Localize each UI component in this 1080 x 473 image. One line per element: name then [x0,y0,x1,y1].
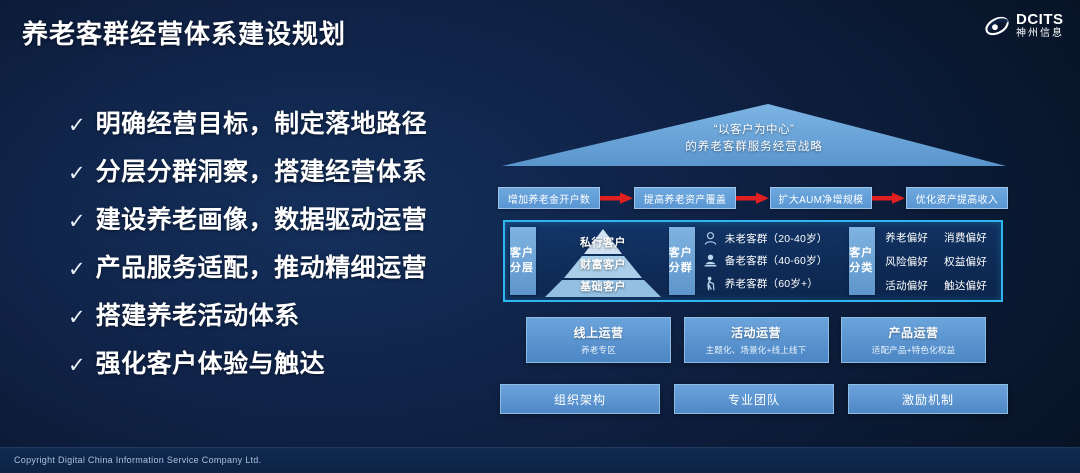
footer-bar: Copyright Digital China Information Serv… [0,447,1080,473]
classify-item: 风险偏好 [885,254,938,269]
check-icon: ✓ [68,115,86,136]
customer-tier-tag: 客户分层 [510,227,536,295]
list-item: ✓ 搭建养老活动体系 [68,296,478,344]
segment-label-3: 养老客群（60岁+） [725,276,818,291]
list-item-label: 分层分群洞察，搭建经营体系 [96,152,428,188]
page-title: 养老客群经营体系建设规划 [22,14,346,51]
brand-text: DCITS 神州信息 [1016,12,1064,39]
customer-classify-section: 客户分类 养老偏好 消费偏好 风险偏好 权益偏好 活动偏好 触达偏好 [844,222,1001,300]
customer-tier-pyramid: 私行客户 财富客户 基础客户 [536,222,664,300]
classify-item: 触达偏好 [944,278,997,293]
goal-chip-1[interactable]: 增加养老金开户数 [498,187,600,209]
brand-name-en: DCITS [1016,12,1064,27]
goal-chip-row: 增加养老金开户数 提高养老资产覆盖 扩大AUM净增规模 优化资产提高收入 [498,186,1008,210]
list-item: ✓ 明确经营目标，制定落地路径 [68,104,478,152]
tier-level-3: 基础客户 [544,278,662,294]
goal-chip-3[interactable]: 扩大AUM净增规模 [770,187,872,209]
arrow-right-icon [600,191,634,205]
goal-chip-2[interactable]: 提高养老资产覆盖 [634,187,736,209]
segment-label-1: 未老客群（20-40岁） [725,231,828,246]
brand-name-cn: 神州信息 [1016,29,1064,39]
list-item-label: 强化客户体验与触达 [96,344,326,380]
list-item: 未老客群（20-40岁） [703,231,845,246]
check-icon: ✓ [68,163,86,184]
strategy-roof: “以客户为中心” 的养老客群服务经营战略 [500,100,1008,172]
copyright-text: Copyright Digital China Information Serv… [14,455,261,465]
tier-level-2: 财富客户 [544,256,662,272]
roof-label: “以客户为中心” 的养老客群服务经营战略 [500,122,1008,156]
operation-subtitle: 适配产品+特色化权益 [872,344,955,356]
operation-card-product[interactable]: 产品运营 适配产品+特色化权益 [841,317,986,363]
list-item: ✓ 产品服务适配，推动精细运营 [68,248,478,296]
swirl-logo-icon [984,13,1010,39]
brand-logo: DCITS 神州信息 [984,12,1064,39]
young-person-icon [703,231,718,246]
foundation-row: 组织架构 专业团队 激励机制 [500,384,1008,414]
operation-title: 线上运营 [573,324,623,341]
roof-label-line2: 的养老客群服务经营战略 [500,139,1008,156]
list-item: 备老客群（40-60岁） [703,253,845,268]
operations-row: 线上运营 养老专区 活动运营 主题化、场景化+线上线下 产品运营 适配产品+特色… [526,317,986,363]
customer-analysis-panel: 客户分层 私行客户 财富客户 基础客户 客户分群 [503,220,1003,302]
customer-classify-grid: 养老偏好 消费偏好 风险偏好 权益偏好 活动偏好 触达偏好 [875,222,1001,300]
tier-level-1: 私行客户 [544,234,662,250]
classify-item: 权益偏好 [944,254,997,269]
roof-label-line1: “以客户为中心” [500,122,1008,139]
classify-item: 养老偏好 [885,230,938,245]
adult-person-icon [703,253,718,268]
list-item: 养老客群（60岁+） [703,276,845,291]
operation-subtitle: 养老专区 [581,344,616,356]
customer-segment-tag: 客户分群 [669,227,695,295]
operation-title: 活动运营 [731,324,781,341]
operation-title: 产品运营 [888,324,938,341]
strategy-diagram: “以客户为中心” 的养老客群服务经营战略 增加养老金开户数 提高养老资产覆盖 扩… [492,92,1012,432]
foundation-card-incentive[interactable]: 激励机制 [848,384,1008,414]
check-icon: ✓ [68,307,86,328]
list-item-label: 搭建养老活动体系 [96,296,300,332]
customer-tier-section: 客户分层 私行客户 财富客户 基础客户 [505,222,664,300]
foundation-card-org[interactable]: 组织架构 [500,384,660,414]
check-icon: ✓ [68,355,86,376]
customer-segment-section: 客户分群 未老客群（20-40岁） 备老客群（40-60岁） [664,222,845,300]
operation-card-online[interactable]: 线上运营 养老专区 [526,317,671,363]
classify-item: 消费偏好 [944,230,997,245]
foundation-card-team[interactable]: 专业团队 [674,384,834,414]
check-icon: ✓ [68,259,86,280]
customer-segment-list: 未老客群（20-40岁） 备老客群（40-60岁） [695,222,845,300]
list-item-label: 产品服务适配，推动精细运营 [96,248,428,284]
operation-subtitle: 主题化、场景化+线上线下 [706,344,807,356]
segment-label-2: 备老客群（40-60岁） [725,253,828,268]
check-icon: ✓ [68,211,86,232]
classify-item: 活动偏好 [885,278,938,293]
list-item: ✓ 强化客户体验与触达 [68,344,478,392]
list-item: ✓ 分层分群洞察，搭建经营体系 [68,152,478,200]
list-item-label: 建设养老画像，数据驱动运营 [96,200,428,236]
key-points-list: ✓ 明确经营目标，制定落地路径 ✓ 分层分群洞察，搭建经营体系 ✓ 建设养老画像… [68,104,478,392]
goal-chip-4[interactable]: 优化资产提高收入 [906,187,1008,209]
customer-classify-tag: 客户分类 [849,227,875,295]
arrow-right-icon [872,191,906,205]
list-item: ✓ 建设养老画像，数据驱动运营 [68,200,478,248]
elderly-cane-icon [703,276,718,291]
arrow-right-icon [736,191,770,205]
operation-card-activity[interactable]: 活动运营 主题化、场景化+线上线下 [684,317,829,363]
slide-header: 养老客群经营体系建设规划 DCITS 神州信息 [0,0,1080,58]
list-item-label: 明确经营目标，制定落地路径 [96,104,428,140]
